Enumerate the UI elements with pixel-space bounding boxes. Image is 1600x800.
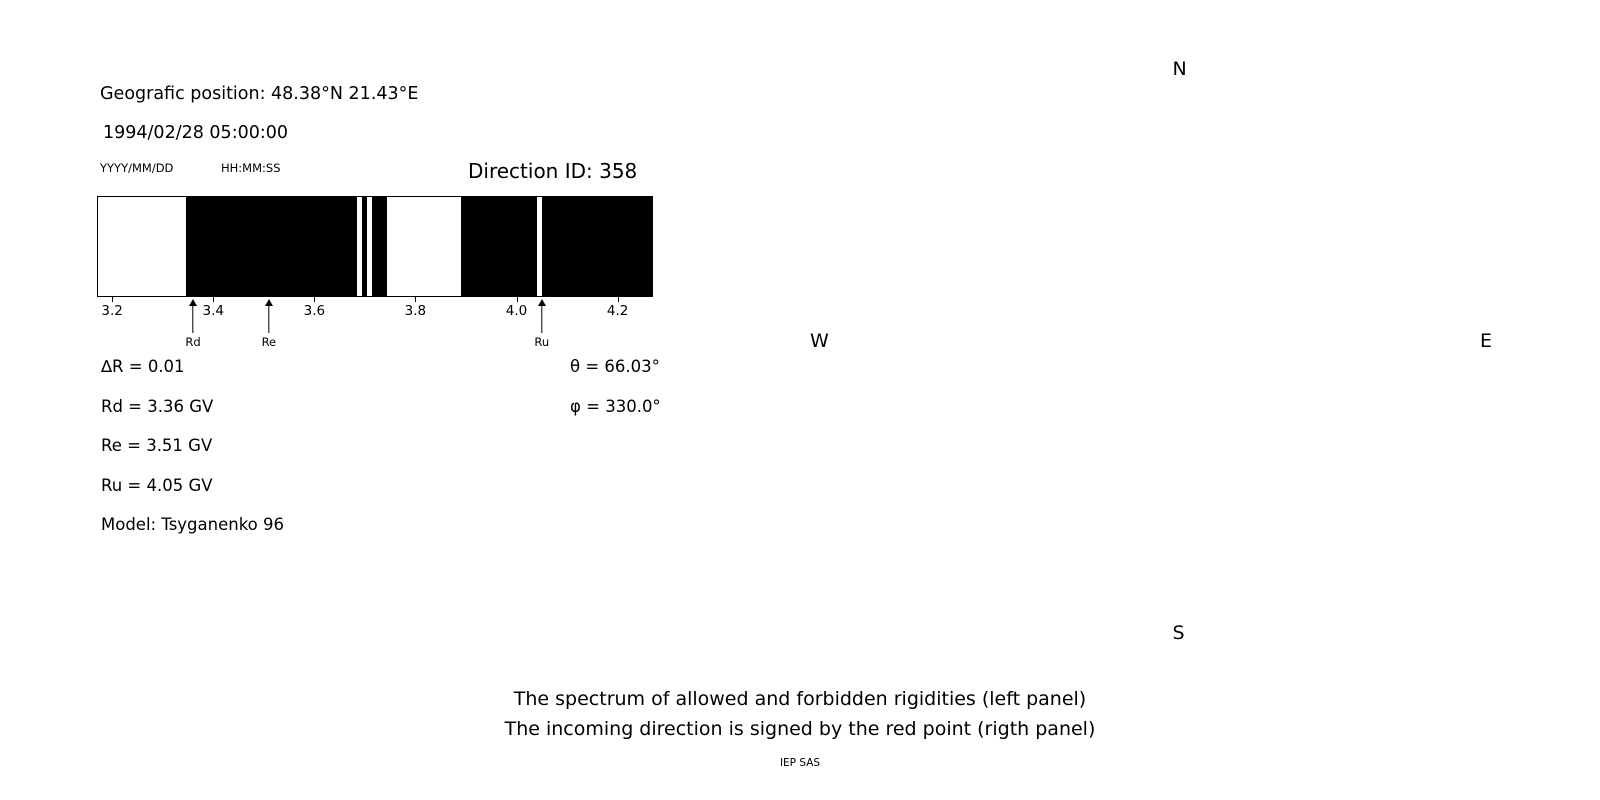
caption-line-2: The incoming direction is signed by the …	[0, 718, 1600, 740]
compass-label-west: W	[810, 330, 829, 352]
marker-label: Rd	[185, 335, 200, 349]
rigidity-axis-tick	[112, 297, 113, 302]
marker-arrow-shaft	[268, 305, 269, 333]
rigidity-axis-tick-label: 3.4	[203, 303, 224, 319]
rigidity-axis-tick	[415, 297, 416, 302]
forbidden-band	[186, 197, 357, 296]
rigidity-axis	[97, 297, 653, 307]
parameter-left-1: Rd = 3.36 GV	[101, 397, 213, 416]
rigidity-axis-tick-label: 4.2	[607, 303, 628, 319]
parameter-left-3: Ru = 4.05 GV	[101, 476, 213, 495]
marker-arrow-head	[538, 299, 546, 306]
marker-label: Ru	[534, 335, 549, 349]
parameter-left-0: ∆R = 0.01	[101, 357, 185, 376]
marker-arrow-shaft	[541, 305, 542, 333]
compass-label-east: E	[1480, 330, 1492, 352]
rigidity-axis-tick-label: 3.6	[304, 303, 325, 319]
left-panel: Geografic position: 48.38°N 21.43°E 1994…	[0, 0, 760, 660]
rigidity-axis-tick-label: 3.2	[101, 303, 122, 319]
rigidity-axis-tick-label: 4.0	[506, 303, 527, 319]
caption-line-1: The spectrum of allowed and forbidden ri…	[0, 688, 1600, 710]
forbidden-band	[372, 197, 387, 296]
geographic-position-text: Geografic position: 48.38°N 21.43°E	[100, 84, 418, 104]
right-panel: −1.00−0.75−0.50−0.250.000.250.500.751.00…	[820, 0, 1600, 660]
rigidity-axis-tick	[213, 297, 214, 302]
marker-arrow-shaft	[192, 305, 193, 333]
compass-label-north: N	[1173, 58, 1187, 80]
date-format-label: YYYY/MM/DD	[100, 161, 173, 175]
compass-label-south: S	[1173, 622, 1185, 644]
direction-id-text: Direction ID: 358	[468, 159, 637, 183]
marker-arrow-head	[265, 299, 273, 306]
parameter-right-0: θ = 66.03°	[570, 357, 660, 376]
time-format-label: HH:MM:SS	[221, 161, 281, 175]
forbidden-band	[461, 197, 537, 296]
forbidden-band	[362, 197, 367, 296]
parameter-right-1: φ = 330.0°	[570, 397, 661, 416]
parameter-left-4: Model: Tsyganenko 96	[101, 515, 284, 534]
rigidity-axis-tick	[314, 297, 315, 302]
datetime-text: 1994/02/28 05:00:00	[103, 123, 288, 143]
rigidity-spectrum-bar	[97, 196, 653, 297]
rigidity-axis-tick	[618, 297, 619, 302]
forbidden-band	[542, 197, 653, 296]
marker-arrow-head	[189, 299, 197, 306]
rigidity-axis-tick	[517, 297, 518, 302]
parameter-left-2: Re = 3.51 GV	[101, 436, 212, 455]
footer-credit: IEP SAS	[0, 757, 1600, 769]
rigidity-axis-tick-label: 3.8	[405, 303, 426, 319]
marker-label: Re	[262, 335, 277, 349]
